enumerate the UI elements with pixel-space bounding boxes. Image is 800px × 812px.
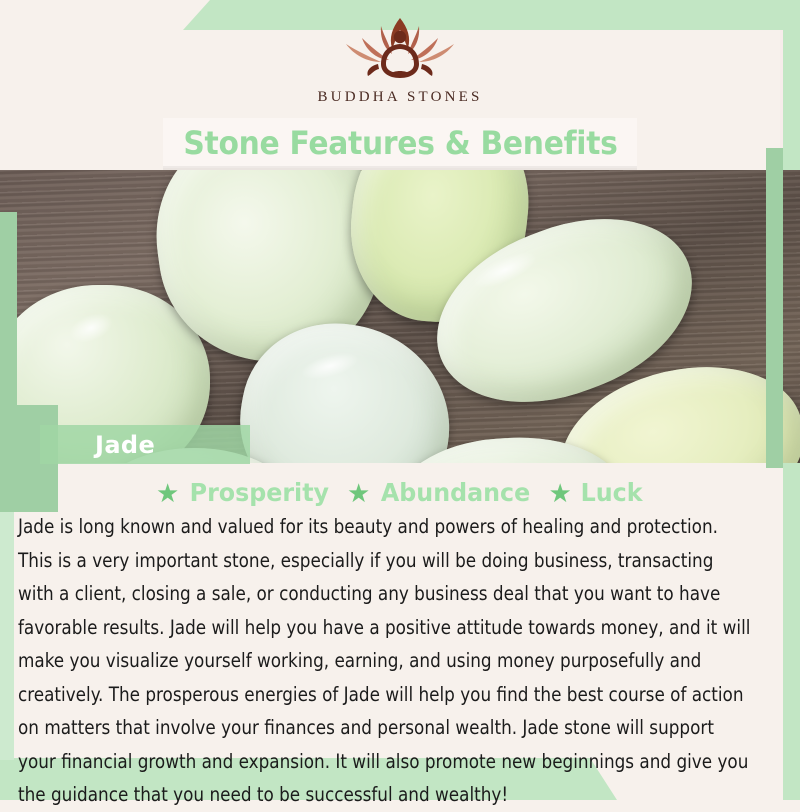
- benefits-row: ★ Prosperity ★ Abundance ★ Luck: [0, 478, 800, 507]
- benefit-label: Prosperity: [190, 478, 329, 507]
- brand-wordmark: BUDDHA STONES: [317, 89, 482, 106]
- stone-name-label: Jade: [40, 431, 155, 459]
- right-accent-bar: [766, 148, 783, 468]
- stone-photo: [0, 170, 800, 463]
- star-icon: ★: [156, 480, 179, 506]
- stone-name-badge: Jade: [40, 425, 250, 464]
- description-text: Jade is long known and valued for its be…: [18, 510, 751, 812]
- benefit-item-prosperity: ★ Prosperity: [156, 478, 333, 507]
- benefit-label: Abundance: [381, 478, 530, 507]
- star-icon: ★: [549, 480, 572, 506]
- banner-shadow: [163, 166, 637, 170]
- benefit-item-abundance: ★ Abundance: [347, 478, 535, 507]
- page-title: Stone Features & Benefits: [183, 124, 617, 162]
- benefit-item-luck: ★ Luck: [549, 478, 645, 507]
- left-green-strip: [0, 470, 14, 760]
- title-banner: Stone Features & Benefits: [163, 118, 637, 168]
- benefit-label: Luck: [580, 478, 642, 507]
- star-icon: ★: [347, 480, 370, 506]
- brand-logo: BUDDHA STONES: [0, 0, 800, 118]
- lotus-meditation-icon: [334, 12, 466, 86]
